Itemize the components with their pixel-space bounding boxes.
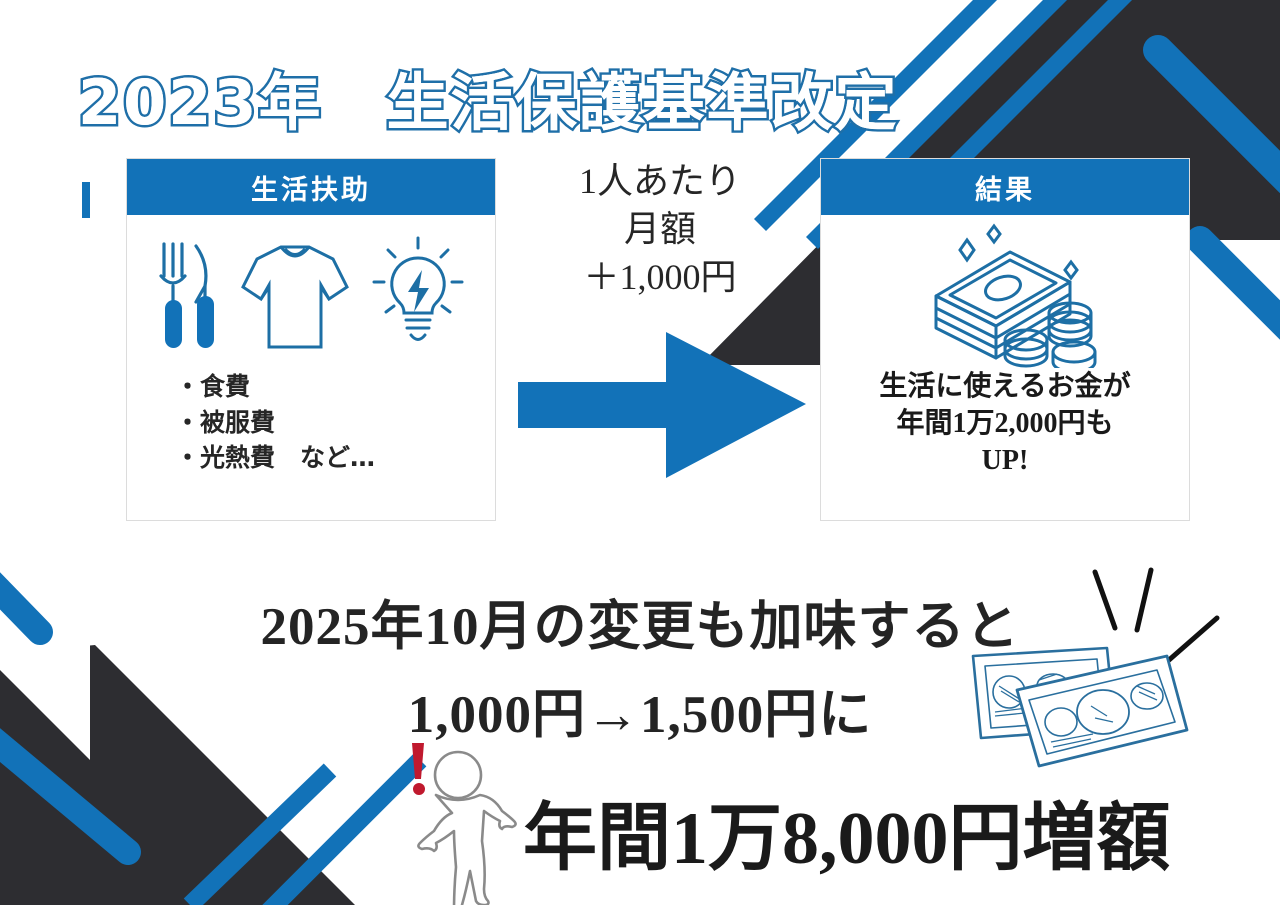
per-person-line-2: 月額	[513, 206, 807, 254]
result-card-body: 生活に使えるお金が 年間1万2,000円も UP!	[821, 215, 1189, 520]
page-title-fill: 2023年 生活保護基準改定	[78, 52, 899, 142]
result-line-3: UP!	[821, 443, 1189, 480]
living-assistance-card-body: ・食費 ・被服費 ・光熱費 など…	[127, 215, 495, 520]
title-accent-bar	[82, 182, 90, 218]
arrow-right-icon	[518, 332, 808, 478]
infographic-canvas: 2023年 生活保護基準改定 2023年 生活保護基準改定 生活扶助	[0, 0, 1280, 905]
list-item: ・光熱費 など…	[175, 440, 495, 476]
banknotes-sketch-icon	[955, 560, 1255, 800]
result-line-1: 生活に使えるお金が	[821, 369, 1189, 406]
per-person-line-3: ＋1,000円	[513, 254, 807, 302]
expense-icon-row	[127, 215, 495, 367]
living-assistance-card-header: 生活扶助	[127, 159, 495, 215]
result-card-header: 結果	[821, 159, 1189, 215]
person-surprised-icon	[396, 735, 526, 905]
result-card: 結果	[820, 158, 1190, 521]
result-line-2: 年間1万2,000円も	[821, 406, 1189, 443]
tshirt-icon	[237, 237, 353, 355]
list-item: ・食費	[175, 369, 495, 405]
living-assistance-card: 生活扶助	[126, 158, 496, 521]
sparkle-icon	[1065, 262, 1077, 278]
result-description: 生活に使えるお金が 年間1万2,000円も UP!	[821, 369, 1189, 480]
exclamation-mark-icon	[412, 743, 425, 795]
money-stack-icon	[898, 218, 1113, 368]
sparkle-icon	[960, 240, 974, 260]
emphasis-lines	[1095, 570, 1217, 660]
expense-bullet-list: ・食費 ・被服費 ・光熱費 など…	[127, 369, 495, 476]
money-icon-wrap	[821, 215, 1189, 365]
fork-knife-icon	[152, 236, 224, 356]
list-item: ・被服費	[175, 405, 495, 441]
sparkle-icon	[988, 226, 1000, 242]
per-person-amount-text: 1人あたり 月額 ＋1,000円	[513, 158, 807, 302]
per-person-line-1: 1人あたり	[513, 158, 807, 206]
lightbulb-icon	[366, 236, 470, 356]
